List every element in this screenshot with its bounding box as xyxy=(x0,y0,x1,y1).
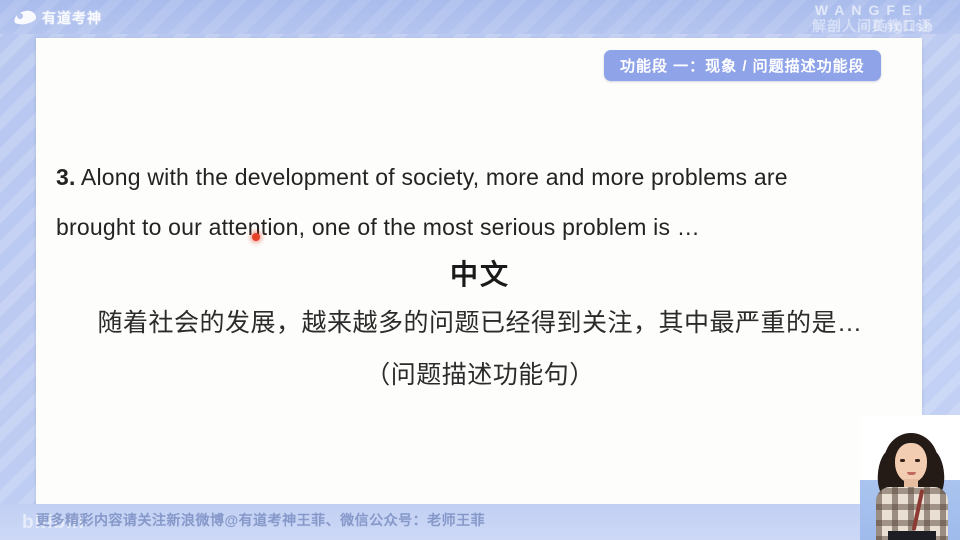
english-line-2: brought to our attention, one of the mos… xyxy=(56,214,700,240)
english-sentence: 3. Along with the development of society… xyxy=(56,152,886,252)
laser-pointer-dot xyxy=(252,233,260,241)
chinese-note: （问题描述功能句） xyxy=(0,355,960,391)
chinese-translation: 随着社会的发展，越来越多的问题已经得到关注，其中最严重的是… xyxy=(0,303,960,339)
brand-logo: 有道考神 xyxy=(14,8,102,28)
top-decorative-band xyxy=(0,0,960,34)
english-line-1: Along with the development of society, m… xyxy=(81,164,788,190)
promo-text: 更多精彩内容请关注新浪微博@有道考神王菲、微信公众号：老师王菲 xyxy=(36,510,485,530)
item-number: 3. xyxy=(56,164,76,190)
presenter-photo xyxy=(860,415,960,540)
youdao-swoosh-icon xyxy=(14,9,36,27)
brand-name: 有道考神 xyxy=(42,8,102,28)
slide-root: 有道考神 WANGFEI 解剖人间英教口语 English 功能段 一：现象 /… xyxy=(0,0,960,540)
chinese-heading: 中文 xyxy=(0,253,960,293)
section-tag-badge: 功能段 一：现象 / 问题描述功能段 xyxy=(604,50,881,81)
